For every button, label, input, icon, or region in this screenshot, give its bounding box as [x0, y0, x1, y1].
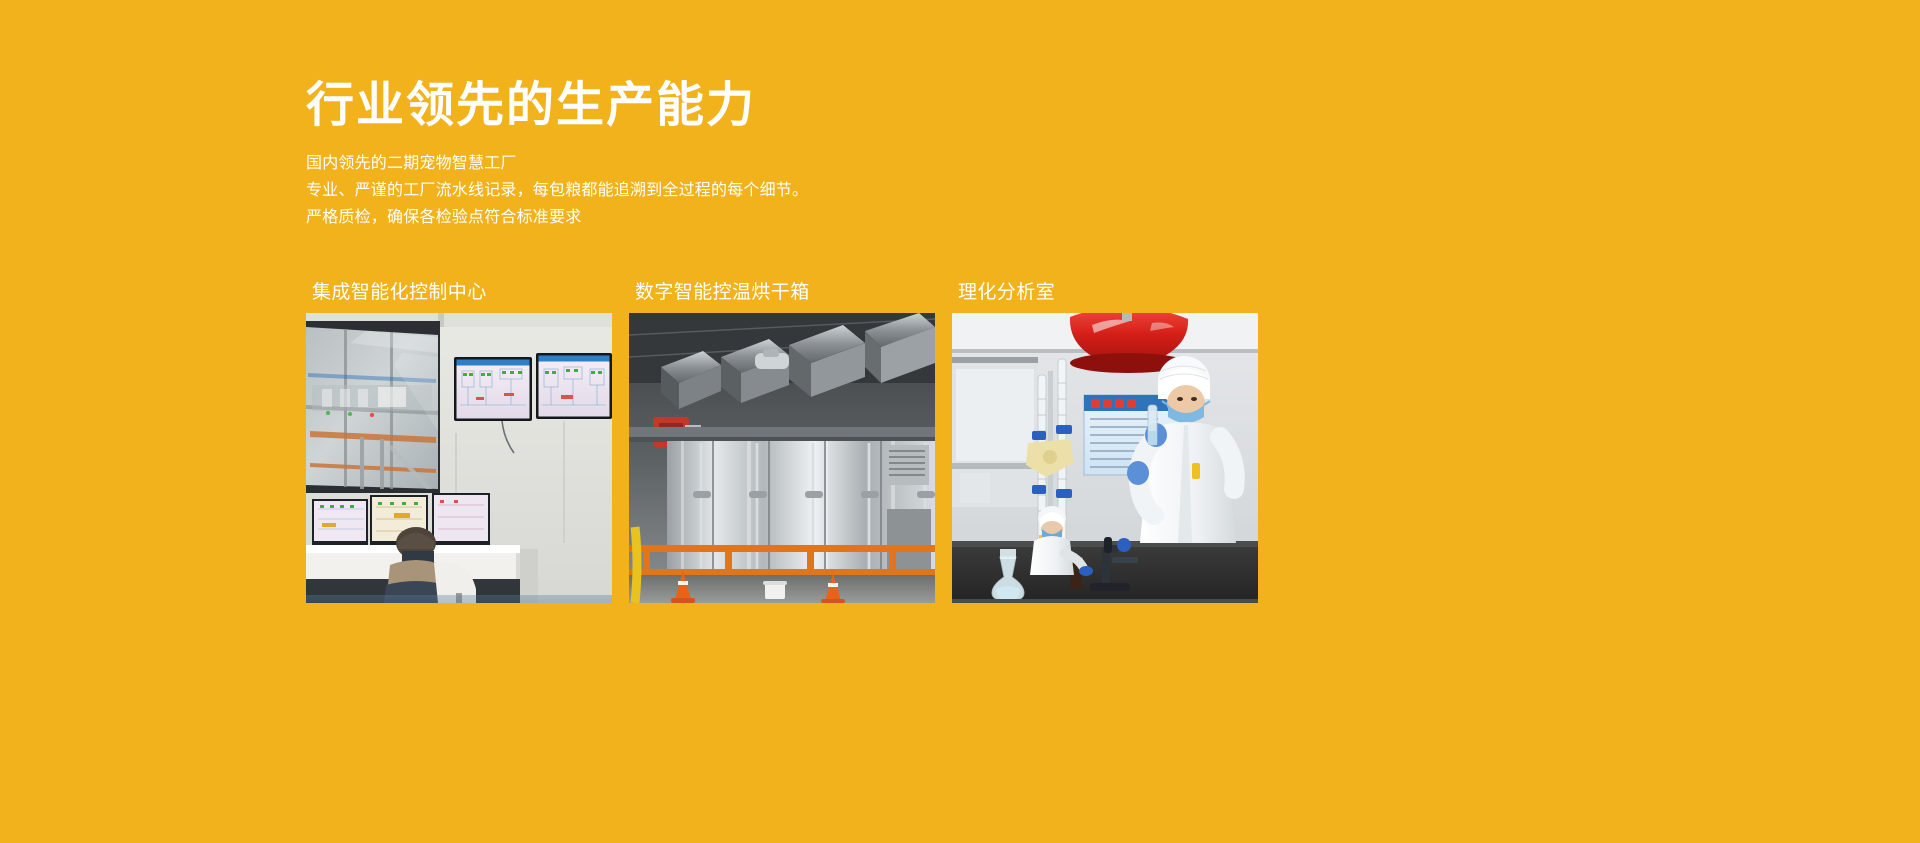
promo-section: 行业领先的生产能力 国内领先的二期宠物智慧工厂 专业、严谨的工厂流水线记录，每包…: [0, 0, 1920, 843]
facility-card-list: 集成智能化控制中心: [306, 281, 1616, 603]
drying-oven-photo[interactable]: [629, 313, 935, 603]
facility-card[interactable]: 集成智能化控制中心: [306, 281, 612, 603]
facility-card[interactable]: 数字智能控温烘干箱: [629, 281, 935, 603]
page-title: 行业领先的生产能力: [306, 76, 756, 136]
intro-line-2: 专业、严谨的工厂流水线记录，每包粮都能追溯到全过程的每个细节。: [306, 177, 1206, 204]
control-center-photo[interactable]: [306, 313, 612, 603]
card-caption: 集成智能化控制中心: [306, 281, 612, 313]
lab-analysis-photo[interactable]: [952, 313, 1258, 603]
facility-card[interactable]: 理化分析室: [952, 281, 1258, 603]
card-caption: 数字智能控温烘干箱: [629, 281, 935, 313]
drying-oven-illustration: [629, 313, 935, 603]
control-center-illustration: [306, 313, 612, 603]
card-caption: 理化分析室: [952, 281, 1258, 313]
intro-line-1: 国内领先的二期宠物智慧工厂: [306, 150, 1206, 177]
intro-line-3: 严格质检，确保各检验点符合标准要求: [306, 204, 1206, 231]
lab-analysis-illustration: [952, 313, 1258, 603]
intro-paragraph: 国内领先的二期宠物智慧工厂 专业、严谨的工厂流水线记录，每包粮都能追溯到全过程的…: [306, 150, 1206, 231]
